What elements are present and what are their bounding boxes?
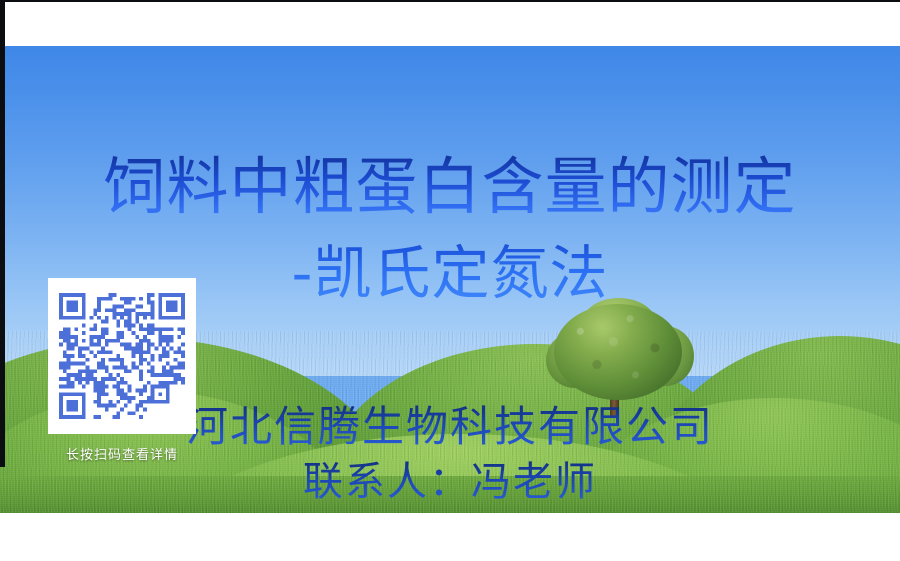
qr-code-image[interactable] bbox=[59, 293, 185, 419]
video-poster-slide[interactable]: 饲料中粗蛋白含量的测定 -凯氏定氮法 河北信腾生物科技有限公司 联系人：冯老师 … bbox=[0, 46, 900, 513]
qr-code-block[interactable]: 长按扫码查看详情 bbox=[48, 278, 196, 464]
qr-code-card[interactable] bbox=[48, 278, 196, 434]
page-background-bottom bbox=[0, 513, 900, 561]
qr-code-caption: 长按扫码查看详情 bbox=[48, 448, 196, 464]
video-top-bezel bbox=[0, 0, 900, 2]
video-player-frame: 饲料中粗蛋白含量的测定 -凯氏定氮法 河北信腾生物科技有限公司 联系人：冯老师 … bbox=[0, 0, 900, 561]
video-left-bezel bbox=[0, 0, 5, 467]
page-background-top bbox=[0, 0, 900, 46]
slide-title-main: 饲料中粗蛋白含量的测定 bbox=[0, 154, 900, 220]
tree-canopy-texture bbox=[550, 300, 688, 404]
company-contact-text: 联系人：冯老师 bbox=[0, 460, 900, 504]
